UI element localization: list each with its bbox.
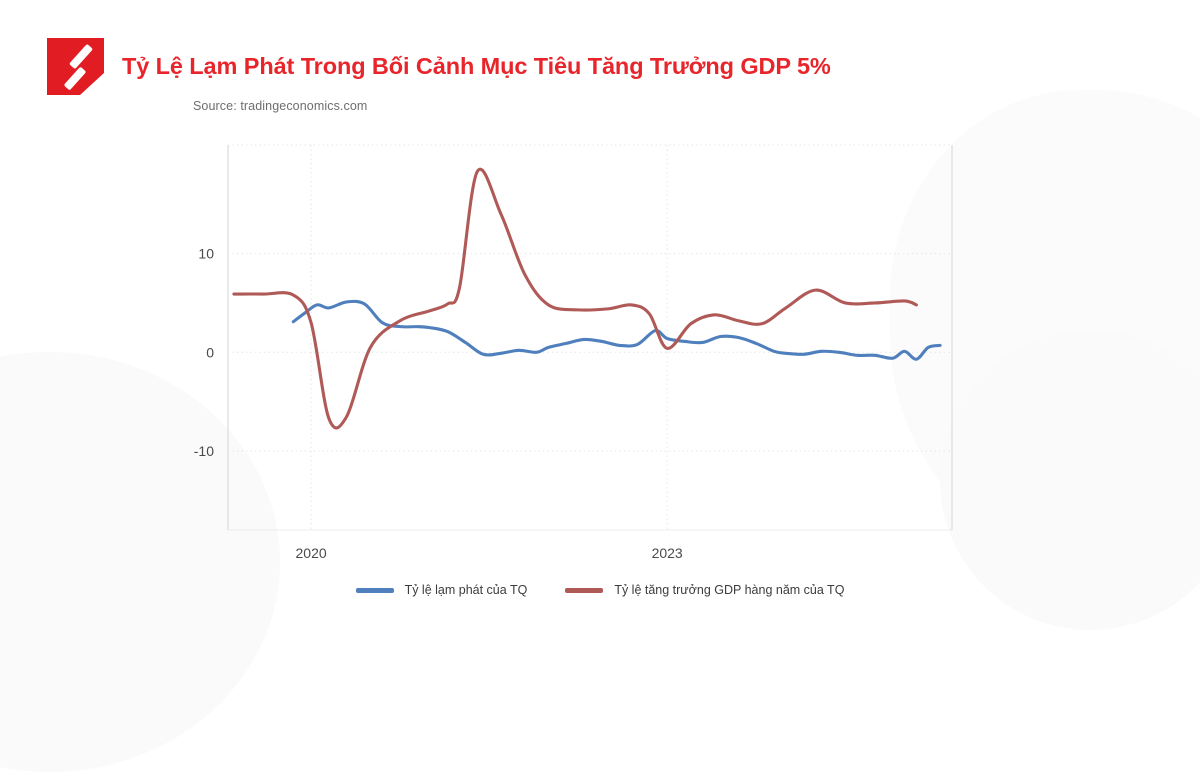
chart-source-label: Source: tradingeconomics.com bbox=[193, 99, 367, 113]
page-header: Tỷ Lệ Lạm Phát Trong Bối Cảnh Mục Tiêu T… bbox=[47, 38, 831, 95]
y-axis-tick-label: 0 bbox=[206, 344, 214, 360]
legend-color-swatch bbox=[565, 588, 603, 593]
y-axis-tick-label: -10 bbox=[194, 443, 214, 459]
y-axis-tick-label: 10 bbox=[198, 246, 214, 262]
legend-label: Tỷ lệ lạm phát của TQ bbox=[405, 583, 528, 597]
series-line-inflation bbox=[293, 301, 940, 359]
legend-item-gdp[interactable]: Tỷ lệ tăng trưởng GDP hàng năm của TQ bbox=[565, 583, 844, 597]
brand-logo-icon bbox=[47, 38, 104, 95]
series-line-gdp bbox=[234, 169, 916, 428]
legend-color-swatch bbox=[356, 588, 394, 593]
x-axis-tick-label: 2020 bbox=[296, 545, 327, 561]
legend-item-inflation[interactable]: Tỷ lệ lạm phát của TQ bbox=[356, 583, 528, 597]
x-axis-tick-label: 2023 bbox=[652, 545, 683, 561]
chart-legend: Tỷ lệ lạm phát của TQTỷ lệ tăng trưởng G… bbox=[0, 583, 1200, 597]
line-chart: 100-1020202023 bbox=[120, 130, 1020, 610]
chart-container: 100-1020202023 bbox=[120, 130, 1020, 610]
page-title: Tỷ Lệ Lạm Phát Trong Bối Cảnh Mục Tiêu T… bbox=[122, 54, 831, 80]
page-root: Tỷ Lệ Lạm Phát Trong Bối Cảnh Mục Tiêu T… bbox=[0, 0, 1200, 628]
legend-label: Tỷ lệ tăng trưởng GDP hàng năm của TQ bbox=[614, 583, 844, 597]
